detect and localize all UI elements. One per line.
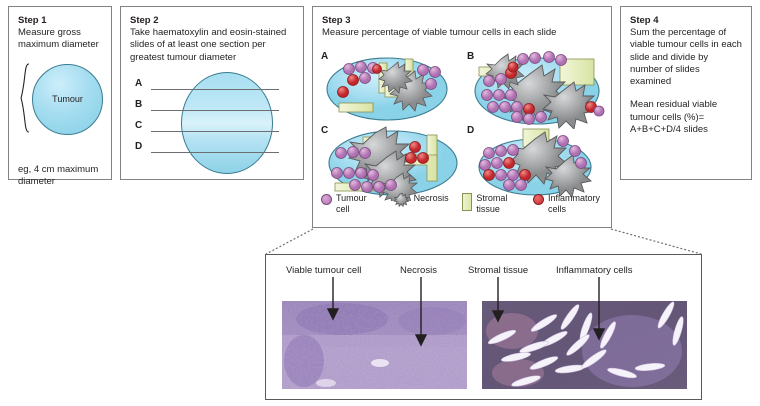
step-1-body: Measure gross maximum diameter [18, 27, 102, 52]
step-2-title: Step 2 [130, 15, 294, 27]
section-label-c: C [135, 120, 142, 131]
slide-b-label: B [467, 51, 474, 62]
tumour-cell-dot-icon [321, 194, 332, 205]
slide-c-label: C [321, 125, 328, 136]
step-3-legend: Tumourcell Necrosis Stromaltissue Inflam… [321, 193, 605, 215]
stromal-tissue-swatch-icon [462, 193, 472, 211]
section-line-d [151, 152, 279, 153]
slide-a-illustration [319, 51, 459, 125]
panel-step-2: Step 2 Take haematoxylin and eosin-stain… [120, 6, 304, 180]
step-4-formula-line-3: A+B+C+D/4 slides [630, 124, 742, 136]
slide-c: C [319, 125, 469, 201]
section-label-d: D [135, 141, 142, 152]
arrow-head-inflammatory-cells [594, 329, 604, 339]
slide-b-illustration [465, 51, 605, 129]
slide-a-label: A [321, 51, 328, 62]
inflammatory-cell-dot-icon [533, 194, 544, 205]
legend-item-necrosis: Necrosis [392, 193, 457, 215]
tumour-circle-label: Tumour [52, 94, 83, 104]
section-line-a [151, 89, 279, 90]
step-3-title: Step 3 [322, 15, 602, 27]
step-4-body: Sum the percentage of viable tumour cell… [630, 27, 742, 88]
diameter-brace-icon [17, 62, 31, 136]
legend-item-inflammatory-cells: Inflammatorycells [533, 193, 605, 215]
panel-step-3: Step 3 Measure percentage of viable tumo… [312, 6, 612, 228]
step-2-figure: A B C D [121, 66, 303, 178]
legend-label-stromal-tissue: Stromaltissue [476, 193, 507, 215]
section-label-a: A [135, 78, 142, 89]
arrow-head-stromal-tissue [493, 311, 503, 321]
step-4-formula-line-1: Mean residual viable [630, 99, 742, 111]
step-1-figure: Tumour [9, 58, 111, 162]
slide-b: B [465, 51, 605, 129]
tumour-circle: Tumour [32, 64, 103, 135]
step-2-body: Take haematoxylin and eosin-stained slid… [130, 27, 294, 64]
slide-d-label: D [467, 125, 474, 136]
arrow-head-necrosis [416, 335, 426, 345]
slide-c-illustration [319, 125, 469, 201]
step-1-title: Step 1 [18, 15, 102, 27]
step-4-formula-line-2: tumour cells (%)= [630, 112, 742, 124]
section-label-b: B [135, 99, 142, 110]
necrosis-starburst-icon [392, 193, 410, 209]
legend-item-tumour-cell: Tumourcell [321, 193, 386, 215]
step-3-body: Measure percentage of viable tumour cell… [322, 27, 602, 39]
photo-annotation-arrows [266, 255, 703, 401]
panel-step-4: Step 4 Sum the percentage of viable tumo… [620, 6, 752, 180]
legend-label-tumour-cell: Tumourcell [336, 193, 367, 215]
legend-label-inflammatory-cells: Inflammatorycells [548, 193, 600, 215]
section-line-c [151, 131, 279, 132]
tumour-ellipse [181, 72, 273, 174]
section-line-b [151, 110, 279, 111]
legend-label-necrosis: Necrosis [414, 193, 449, 204]
slide-d-illustration [465, 125, 605, 201]
legend-item-stromal-tissue: Stromaltissue [462, 193, 527, 215]
arrow-head-viable-tumour-cell [328, 309, 338, 319]
slide-d: D [465, 125, 605, 201]
panel-step-1: Step 1 Measure gross maximum diameter Tu… [8, 6, 112, 180]
step-4-formula: Mean residual viable tumour cells (%)= A… [630, 99, 742, 136]
step-1-note: eg, 4 cm maximum diameter [9, 164, 111, 189]
slide-a: A [319, 51, 459, 125]
panel-histology-photos: Viable tumour cell Necrosis Stromal tiss… [265, 254, 702, 400]
step-4-title: Step 4 [630, 15, 742, 27]
